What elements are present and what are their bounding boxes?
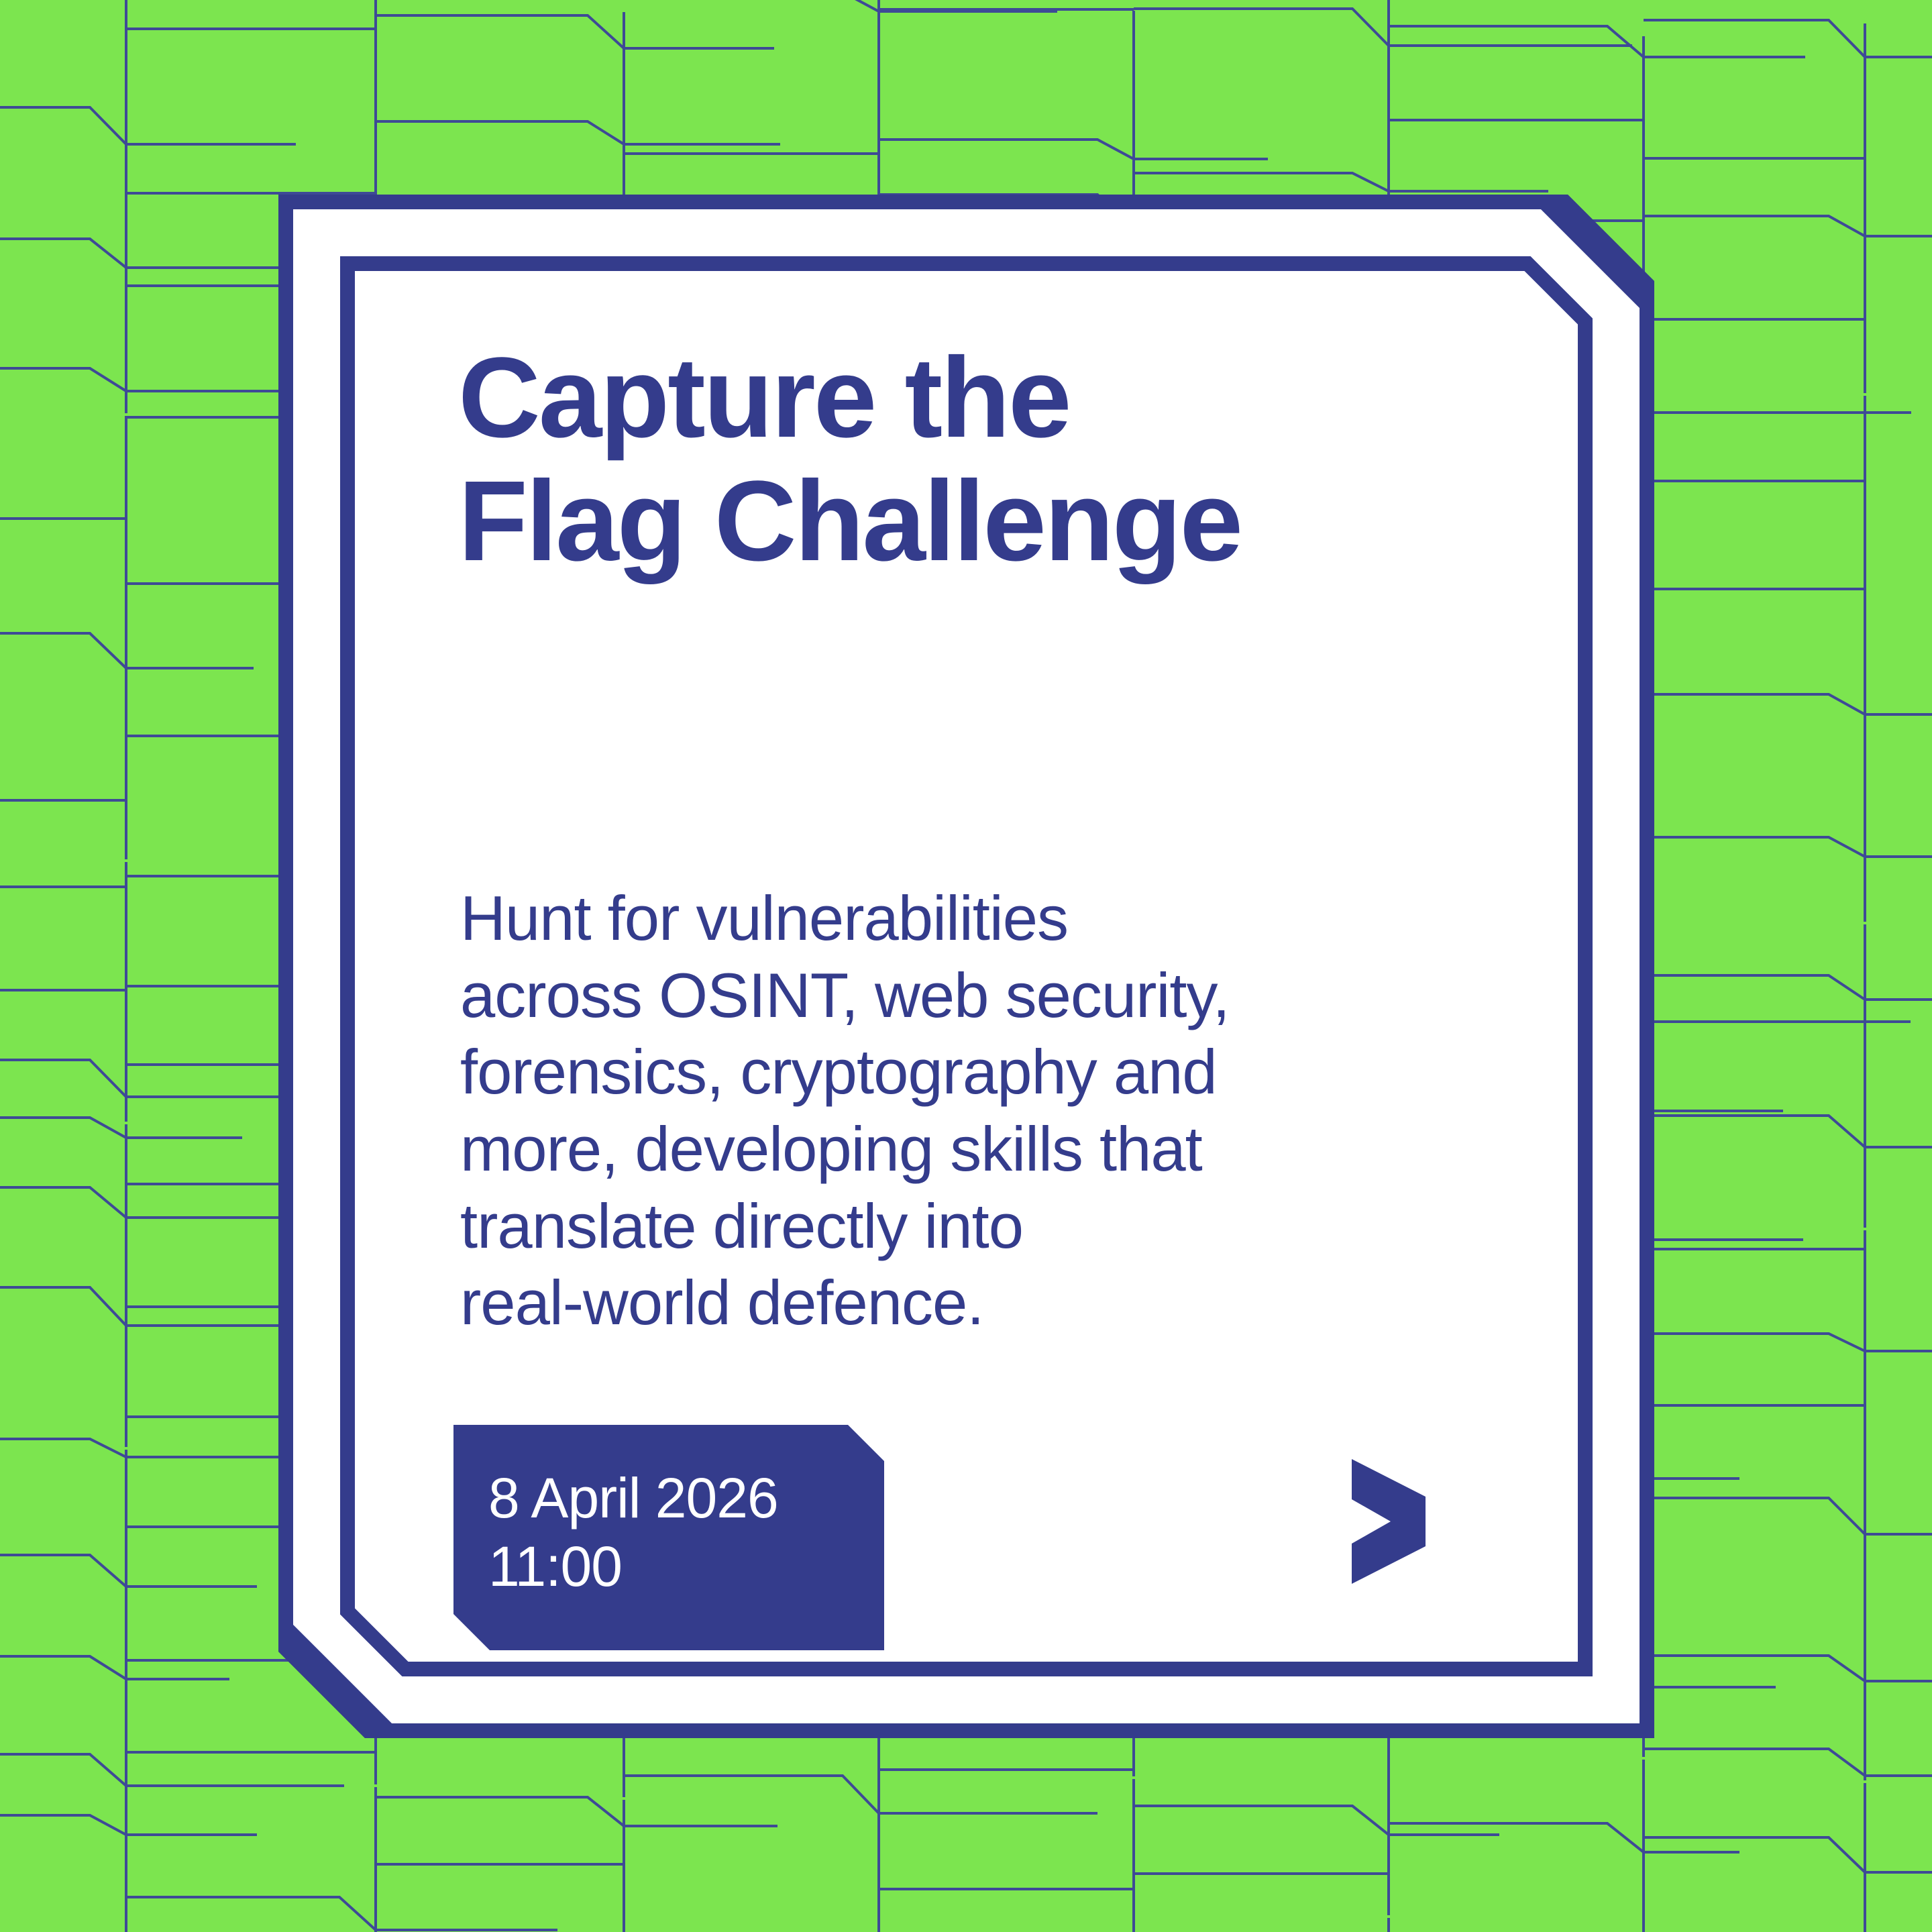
page-title-line-2: Flag Challenge xyxy=(458,460,1464,584)
date-time-badge: 8 April 2026 11:00 xyxy=(453,1425,884,1650)
body-line-5: translate directly into xyxy=(460,1188,1487,1265)
card-content: Capture theFlag Challenge Hunt for vulne… xyxy=(347,209,1586,1723)
date-time-text: 8 April 2026 11:00 xyxy=(488,1464,778,1601)
page-title: Capture theFlag Challenge xyxy=(458,337,1464,583)
body-line-3: forensics, cryptography and xyxy=(460,1034,1487,1111)
body-description: Hunt for vulnerabilitiesacross OSINT, we… xyxy=(460,880,1487,1342)
body-line-1: Hunt for vulnerabilities xyxy=(460,880,1487,957)
poster-root: Capture theFlag Challenge Hunt for vulne… xyxy=(0,0,1932,1932)
body-line-2: across OSINT, web security, xyxy=(460,957,1487,1034)
body-line-6: real-world defence. xyxy=(460,1265,1487,1342)
body-line-4: more, developing skills that xyxy=(460,1111,1487,1188)
chevron-greater-than-icon xyxy=(1352,1459,1456,1584)
page-title-line-1: Capture the xyxy=(458,337,1464,460)
